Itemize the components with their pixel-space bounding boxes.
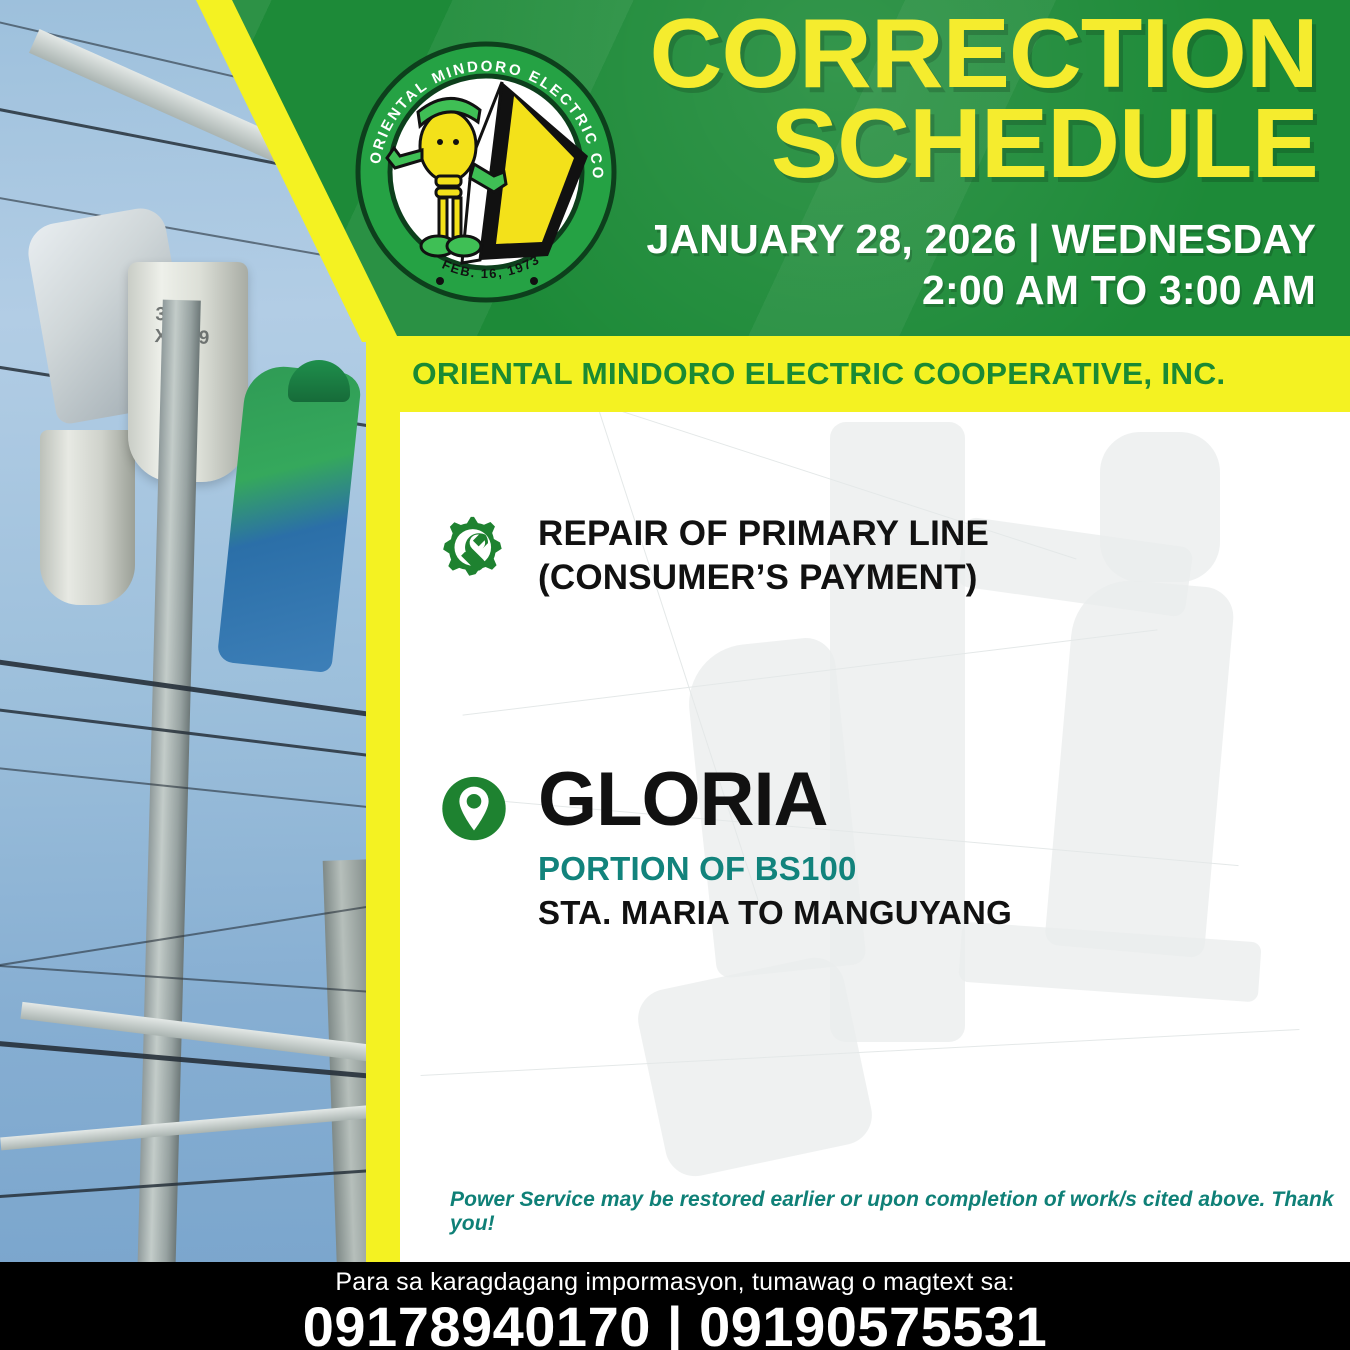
poster: 37.5X-799 CORRECTION SCHEDULE JANUARY 28… bbox=[0, 0, 1350, 1350]
left-yellow-strip bbox=[366, 336, 400, 1262]
page-title: CORRECTION SCHEDULE bbox=[650, 8, 1318, 188]
location-detail: STA. MARIA TO MANGUYANG bbox=[538, 894, 1012, 932]
gear-wrench-icon bbox=[432, 512, 516, 590]
footer-phone-numbers[interactable]: 09178940170 | 09190575531 bbox=[0, 1298, 1350, 1350]
work-description-row: REPAIR OF PRIMARY LINE (CONSUMER’S PAYME… bbox=[432, 512, 989, 600]
location-text: GLORIA PORTION OF BS100 STA. MARIA TO MA… bbox=[538, 772, 1012, 932]
work-description: REPAIR OF PRIMARY LINE (CONSUMER’S PAYME… bbox=[538, 512, 989, 600]
ormeco-seal-icon: ORIENTAL MINDORO ELECTRIC COOPERATIVE, I… bbox=[352, 38, 620, 306]
work-line-1: REPAIR OF PRIMARY LINE bbox=[538, 512, 989, 556]
transformer-secondary bbox=[40, 430, 135, 605]
map-pin-icon bbox=[432, 772, 516, 850]
location-portion: PORTION OF BS100 bbox=[538, 850, 1012, 888]
location-name: GLORIA bbox=[538, 764, 1012, 836]
company-name-band: ORIENTAL MINDORO ELECTRIC COOPERATIVE, I… bbox=[390, 336, 1350, 412]
restoration-note: Power Service may be restored earlier or… bbox=[450, 1188, 1350, 1236]
schedule-datetime: JANUARY 28, 2026 | WEDNESDAY 2:00 AM TO … bbox=[646, 214, 1316, 317]
title-line-1: CORRECTION bbox=[650, 8, 1318, 98]
work-line-2: (CONSUMER’S PAYMENT) bbox=[538, 556, 989, 600]
title-line-2: SCHEDULE bbox=[650, 98, 1318, 188]
footer-caption: Para sa karagdagang impormasyon, tumawag… bbox=[0, 1262, 1350, 1297]
location-row: GLORIA PORTION OF BS100 STA. MARIA TO MA… bbox=[432, 772, 1012, 932]
schedule-date: JANUARY 28, 2026 | WEDNESDAY bbox=[646, 214, 1316, 265]
main-content: REPAIR OF PRIMARY LINE (CONSUMER’S PAYME… bbox=[400, 412, 1350, 1262]
schedule-time: 2:00 AM TO 3:00 AM bbox=[646, 265, 1316, 316]
company-name: ORIENTAL MINDORO ELECTRIC COOPERATIVE, I… bbox=[412, 356, 1225, 392]
contact-footer: Para sa karagdagang impormasyon, tumawag… bbox=[0, 1262, 1350, 1350]
ormeco-logo: ORIENTAL MINDORO ELECTRIC COOPERATIVE, I… bbox=[352, 38, 620, 306]
